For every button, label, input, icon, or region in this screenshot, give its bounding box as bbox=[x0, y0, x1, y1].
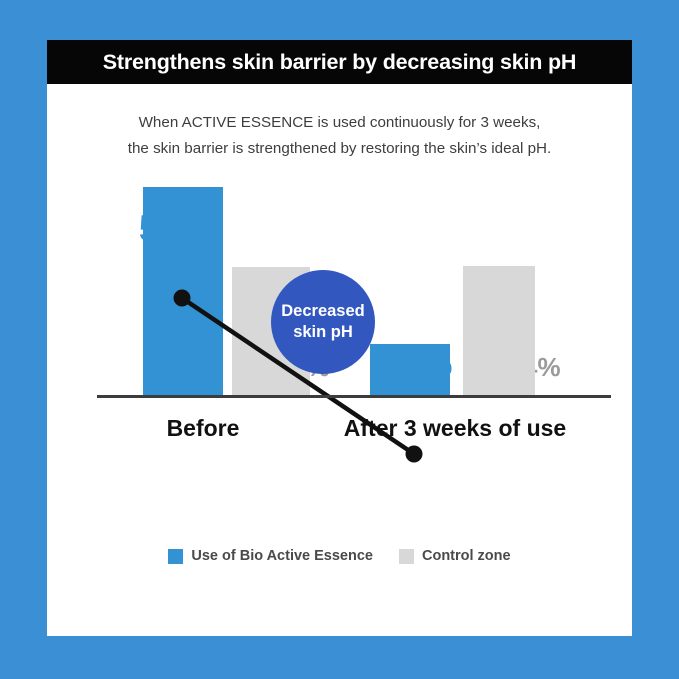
axis-baseline bbox=[97, 395, 611, 398]
bar-after-control bbox=[463, 266, 535, 395]
bar-before-active bbox=[143, 187, 223, 395]
subtitle: When ACTIVE ESSENCE is used continuously… bbox=[47, 110, 632, 162]
bar-chart: 5.5% 5.4% 5.3% 5.4% Decreased skin pH bbox=[47, 170, 632, 520]
category-label-before: Before bbox=[113, 415, 293, 442]
chart-legend: Use of Bio Active Essence Control zone bbox=[47, 548, 632, 564]
legend-label-active-essence: Use of Bio Active Essence bbox=[191, 548, 373, 564]
bar-after-active bbox=[370, 344, 450, 395]
page-title: Strengthens skin barrier by decreasing s… bbox=[103, 50, 577, 75]
legend-swatch-icon-control-zone bbox=[399, 549, 414, 564]
badge-line-1: Decreased bbox=[281, 301, 364, 322]
infographic-root: Strengthens skin barrier by decreasing s… bbox=[0, 0, 679, 679]
legend-item-control-zone: Control zone bbox=[399, 548, 511, 564]
legend-item-active-essence: Use of Bio Active Essence bbox=[168, 548, 373, 564]
legend-swatch-icon-active-essence bbox=[168, 549, 183, 564]
info-card: Strengthens skin barrier by decreasing s… bbox=[47, 40, 632, 636]
category-label-after: After 3 weeks of use bbox=[315, 415, 595, 442]
decreased-ph-badge: Decreased skin pH bbox=[271, 270, 375, 374]
legend-label-control-zone: Control zone bbox=[422, 548, 511, 564]
badge-line-2: skin pH bbox=[293, 322, 353, 343]
subtitle-line-2: the skin barrier is strengthened by rest… bbox=[47, 136, 632, 162]
card-header: Strengthens skin barrier by decreasing s… bbox=[47, 40, 632, 84]
subtitle-line-1: When ACTIVE ESSENCE is used continuously… bbox=[47, 110, 632, 136]
